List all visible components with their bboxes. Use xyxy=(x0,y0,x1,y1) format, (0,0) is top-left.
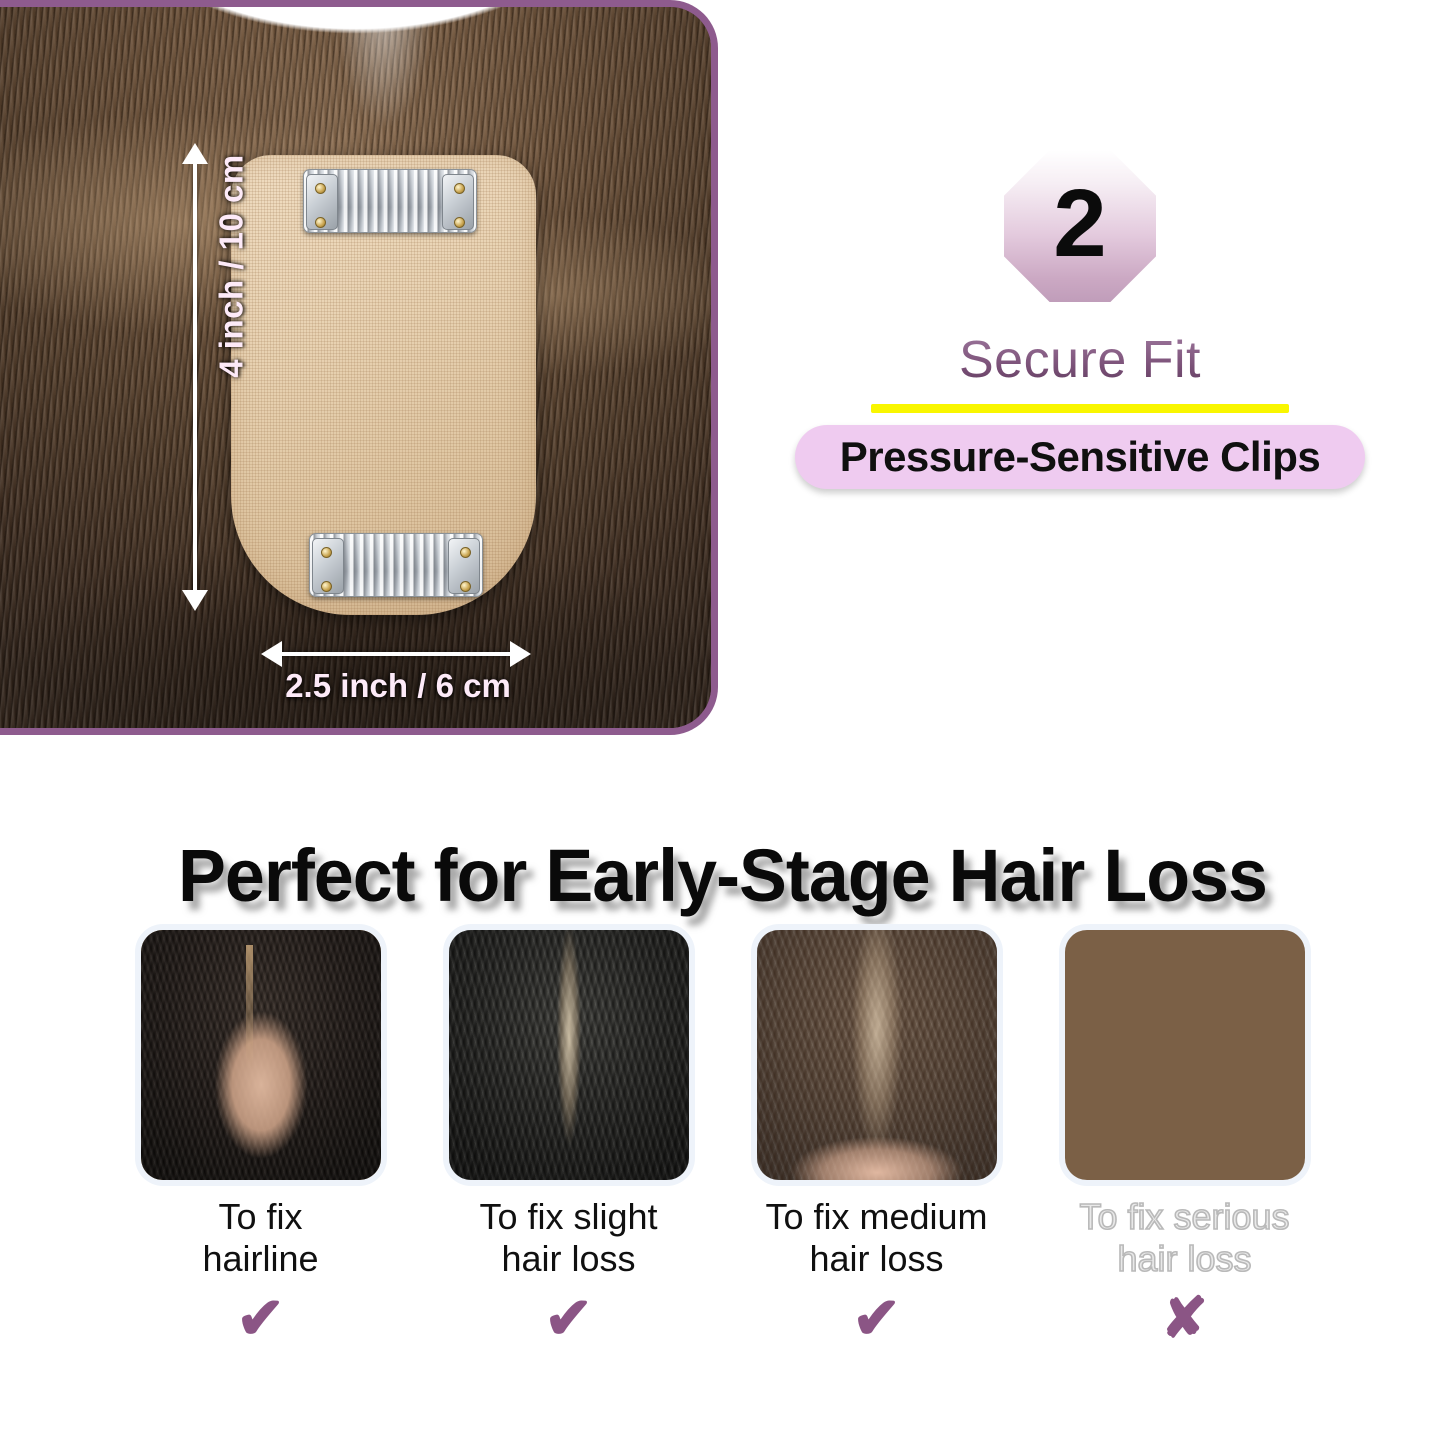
step-badge-number: 2 xyxy=(1053,176,1106,272)
clip-plate-right xyxy=(448,538,480,594)
caption-line-2: hair loss xyxy=(809,1238,943,1279)
use-case-hairline: To fix hairline ✔ xyxy=(137,930,385,1348)
yellow-underline xyxy=(871,404,1289,413)
rivet-icon xyxy=(460,547,471,558)
medium-hair-loss-thumbnail xyxy=(757,930,997,1180)
serious-hair-loss-thumbnail-image xyxy=(1065,930,1305,1180)
check-icon: ✔ xyxy=(852,1290,901,1348)
serious-hair-loss-thumbnail xyxy=(1065,930,1305,1180)
use-case-list: To fix hairline ✔ To fix slight hair los… xyxy=(0,930,1445,1348)
step-badge-octagon: 2 xyxy=(1004,150,1156,302)
feature-block: 2 Secure Fit Pressure-Sensitive Clips xyxy=(760,150,1400,489)
hairline-thumbnail-image xyxy=(141,930,381,1180)
width-dimension-arrow xyxy=(280,652,512,656)
height-dimension-label: 4 inch / 10 cm xyxy=(213,154,251,377)
feature-pill-label: Pressure-Sensitive Clips xyxy=(840,433,1321,481)
slight-hair-loss-thumbnail-image xyxy=(449,930,689,1180)
product-photo-panel: 4 inch / 10 cm 2.5 inch / 6 cm xyxy=(0,0,718,735)
medium-hair-loss-thumbnail-image xyxy=(757,930,997,1180)
clip-plate-left xyxy=(312,538,344,594)
use-case-medium-hair-loss: To fix medium hair loss ✔ xyxy=(753,930,1001,1348)
caption-line-1: To fix xyxy=(218,1196,302,1237)
hairline-thumbnail xyxy=(141,930,381,1180)
feature-pill: Pressure-Sensitive Clips xyxy=(795,425,1365,489)
rivet-icon xyxy=(315,183,326,194)
clip-plate-left xyxy=(306,174,338,230)
use-case-serious-hair-loss: To fix serious hair loss ✘ xyxy=(1061,930,1309,1348)
width-dimension-label: 2.5 inch / 6 cm xyxy=(248,667,548,705)
caption-line-2: hairline xyxy=(202,1238,318,1279)
rivet-icon xyxy=(321,547,332,558)
rivet-icon xyxy=(321,581,332,592)
topper-base-mesh xyxy=(231,155,536,615)
caption-line-1: To fix serious xyxy=(1079,1196,1289,1237)
caption-line-1: To fix medium xyxy=(765,1196,987,1237)
check-icon: ✔ xyxy=(544,1290,593,1348)
slight-hair-loss-thumbnail xyxy=(449,930,689,1180)
use-case-caption: To fix hairline xyxy=(202,1196,318,1280)
use-case-caption: To fix slight hair loss xyxy=(479,1196,657,1280)
section-headline: Perfect for Early-Stage Hair Loss xyxy=(22,833,1424,918)
use-case-caption: To fix medium hair loss xyxy=(765,1196,987,1280)
top-clip xyxy=(303,169,477,233)
rivet-icon xyxy=(315,217,326,228)
rivet-icon xyxy=(454,183,465,194)
use-case-slight-hair-loss: To fix slight hair loss ✔ xyxy=(445,930,693,1348)
use-case-caption-disabled: To fix serious hair loss xyxy=(1079,1196,1289,1280)
caption-line-1: To fix slight xyxy=(479,1196,657,1237)
feature-title: Secure Fit xyxy=(760,330,1400,390)
cross-icon: ✘ xyxy=(1161,1290,1208,1346)
caption-line-2: hair loss xyxy=(1117,1238,1251,1279)
top-section: 4 inch / 10 cm 2.5 inch / 6 cm 2 Secure … xyxy=(0,0,1445,800)
rivet-icon xyxy=(454,217,465,228)
caption-line-2: hair loss xyxy=(501,1238,635,1279)
check-icon: ✔ xyxy=(236,1290,285,1348)
height-dimension-arrow xyxy=(193,162,197,592)
clip-plate-right xyxy=(442,174,474,230)
rivet-icon xyxy=(460,581,471,592)
bottom-clip xyxy=(309,533,483,597)
